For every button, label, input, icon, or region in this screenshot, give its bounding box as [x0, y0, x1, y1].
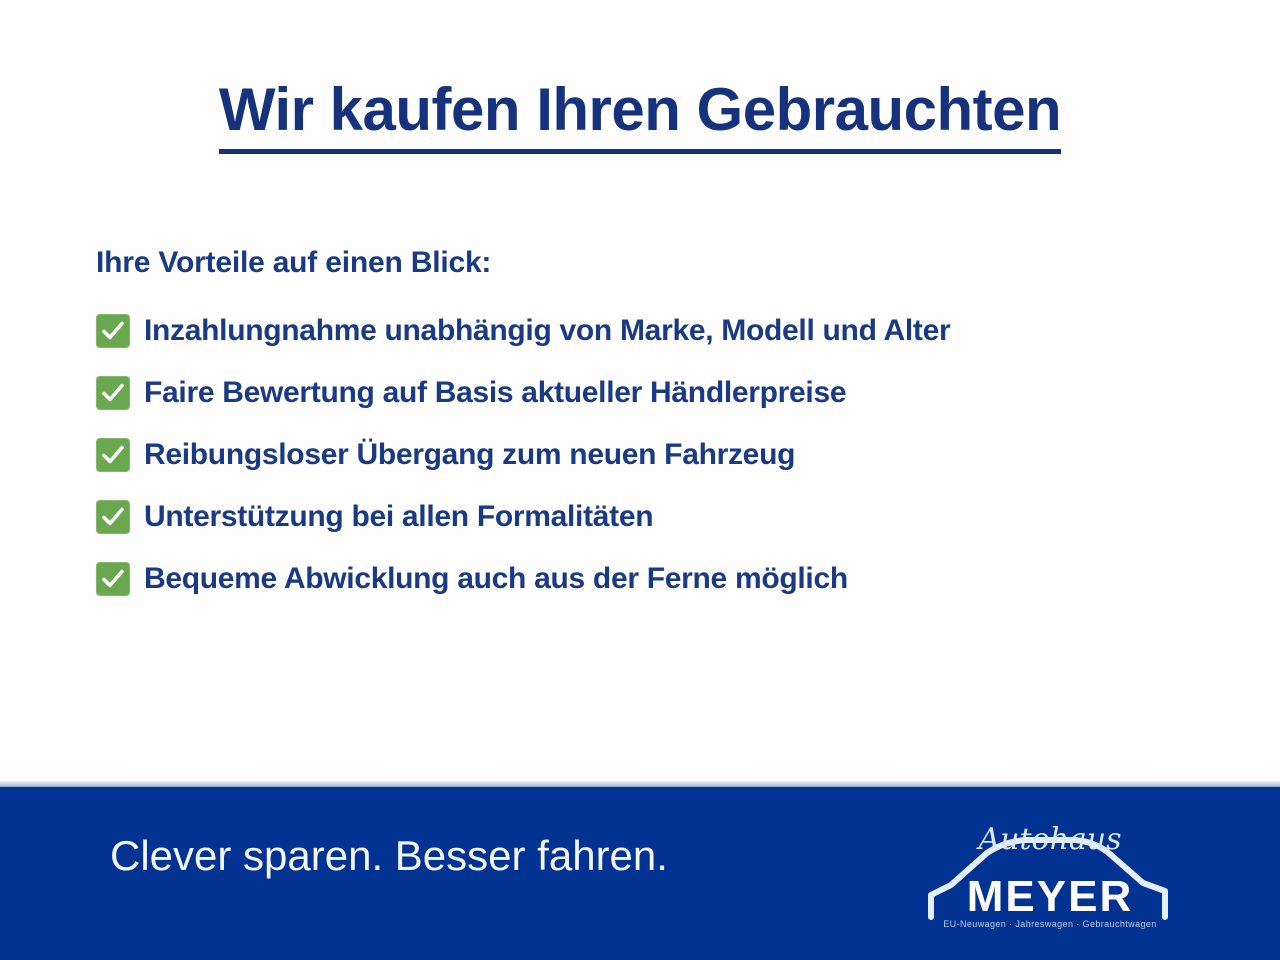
logo-script-text: Autohaus [975, 822, 1121, 857]
check-icon [96, 562, 130, 596]
logo-wordmark: MEYER [967, 872, 1133, 921]
benefits-list: Inzahlungnahme unabhängig von Marke, Mod… [96, 308, 1226, 618]
benefit-label: Reibungsloser Übergang zum neuen Fahrzeu… [144, 440, 795, 470]
benefit-label: Inzahlungnahme unabhängig von Marke, Mod… [144, 316, 950, 346]
check-icon [96, 314, 130, 348]
list-item: Inzahlungnahme unabhängig von Marke, Mod… [96, 308, 1226, 353]
footer-bar: Clever sparen. Besser fahren. Autohaus M… [0, 787, 1280, 960]
headline-container: Wir kaufen Ihren Gebrauchten [0, 78, 1280, 154]
check-icon [96, 500, 130, 534]
list-item: Bequeme Abwicklung auch aus der Ferne mö… [96, 556, 1226, 601]
logo-subtitle: EU-Neuwagen · Jahreswagen · Gebrauchtwag… [943, 919, 1156, 929]
check-icon [96, 438, 130, 472]
dealer-logo: Autohaus MEYER EU-Neuwagen · Jahreswagen… [925, 809, 1175, 935]
benefit-label: Unterstützung bei allen Formalitäten [144, 502, 653, 532]
page-title: Wir kaufen Ihren Gebrauchten [219, 78, 1061, 154]
subtitle: Ihre Vorteile auf einen Blick: [96, 246, 491, 280]
list-item: Reibungsloser Übergang zum neuen Fahrzeu… [96, 432, 1226, 477]
benefit-label: Faire Bewertung auf Basis aktueller Händ… [144, 378, 846, 408]
list-item: Faire Bewertung auf Basis aktueller Händ… [96, 370, 1226, 415]
benefit-label: Bequeme Abwicklung auch aus der Ferne mö… [144, 564, 848, 594]
slide-canvas: Wir kaufen Ihren Gebrauchten Ihre Vortei… [0, 0, 1280, 960]
list-item: Unterstützung bei allen Formalitäten [96, 494, 1226, 539]
footer-tagline: Clever sparen. Besser fahren. [110, 832, 668, 880]
check-icon [96, 376, 130, 410]
